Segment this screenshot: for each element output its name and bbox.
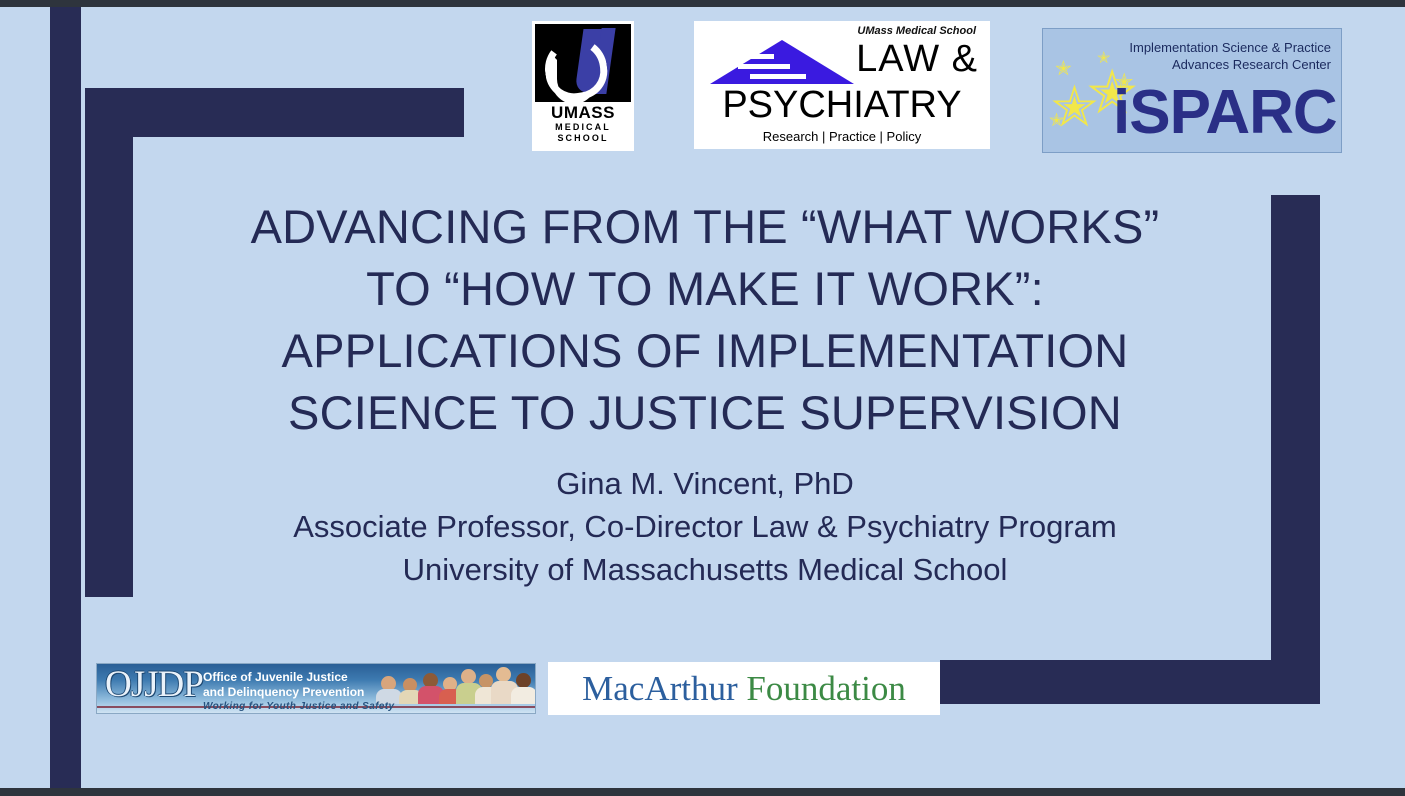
law-and-psychiatry-logo: UMass Medical School LAW & PSYCHIATRY Re… — [694, 21, 990, 149]
umass-logo-line3: SCHOOL — [535, 133, 631, 144]
umass-medical-school-logo: UMASS MEDICAL SCHOOL — [532, 21, 634, 151]
presenter-name: Gina M. Vincent, PhD — [150, 462, 1260, 505]
presentation-slide: UMASS MEDICAL SCHOOL UMass Medical Schoo… — [0, 0, 1405, 796]
star-icon: ✭ — [1055, 59, 1072, 79]
presenter-affiliation: University of Massachusetts Medical Scho… — [150, 548, 1260, 591]
law-logo-line1: LAW & — [856, 36, 978, 82]
capture-edge-bottom — [0, 788, 1405, 796]
slide-subtitle: Gina M. Vincent, PhD Associate Professor… — [150, 462, 1260, 591]
ojjdp-tagline: Working for Youth Justice and Safety — [203, 701, 394, 712]
capture-edge-top — [0, 0, 1405, 7]
ojjdp-youth-photo — [375, 664, 535, 704]
macarthur-foundation-logo: MacArthur Foundation — [548, 662, 940, 715]
isparc-tagline-line2: Advances Research Center — [1129, 56, 1331, 73]
ojjdp-subtitle-line1: Office of Juvenile Justice — [203, 670, 364, 685]
header-logo-row: UMASS MEDICAL SCHOOL UMass Medical Schoo… — [0, 0, 1405, 165]
ojjdp-subtitle: Office of Juvenile Justice and Delinquen… — [203, 670, 364, 700]
accent-bar-bottom-rail — [940, 660, 1320, 704]
umass-logo-line1: UMASS — [535, 104, 631, 122]
accent-bar-right-rail — [1271, 195, 1320, 704]
isparc-logo: ✭ ✭ ✭ ✭ ✭ ✭ Implementation Science & Pra… — [1042, 28, 1342, 153]
star-icon: ✭ — [1049, 111, 1064, 129]
isparc-tagline-line1: Implementation Science & Practice — [1129, 39, 1331, 56]
presenter-title: Associate Professor, Co-Director Law & P… — [150, 505, 1260, 548]
title-line-4: SCIENCE TO JUSTICE SUPERVISION — [150, 382, 1260, 444]
ojjdp-logo: OJJDP Office of Juvenile Justice and Del… — [96, 663, 536, 714]
title-line-3: APPLICATIONS OF IMPLEMENTATION — [150, 320, 1260, 382]
law-logo-tagline: Research | Practice | Policy — [702, 126, 982, 146]
ojjdp-acronym: OJJDP — [105, 665, 203, 705]
title-line-2: TO “HOW TO MAKE IT WORK”: — [150, 258, 1260, 320]
law-logo-line2: PSYCHIATRY — [702, 84, 982, 126]
ojjdp-subtitle-line2: and Delinquency Prevention — [203, 685, 364, 700]
umass-monogram-icon — [535, 24, 631, 102]
slide-title: ADVANCING FROM THE “WHAT WORKS” TO “HOW … — [150, 196, 1260, 444]
foundation-word: Foundation — [738, 669, 906, 708]
isparc-wordmark: iSPARC — [1113, 82, 1337, 144]
title-line-1: ADVANCING FROM THE “WHAT WORKS” — [150, 196, 1260, 258]
star-icon: ✭ — [1097, 51, 1110, 67]
umass-logo-line2: MEDICAL — [535, 122, 631, 133]
macarthur-word: MacArthur — [582, 669, 738, 708]
law-logo-main-row: LAW & — [702, 38, 982, 84]
isparc-tagline: Implementation Science & Practice Advanc… — [1129, 39, 1331, 73]
